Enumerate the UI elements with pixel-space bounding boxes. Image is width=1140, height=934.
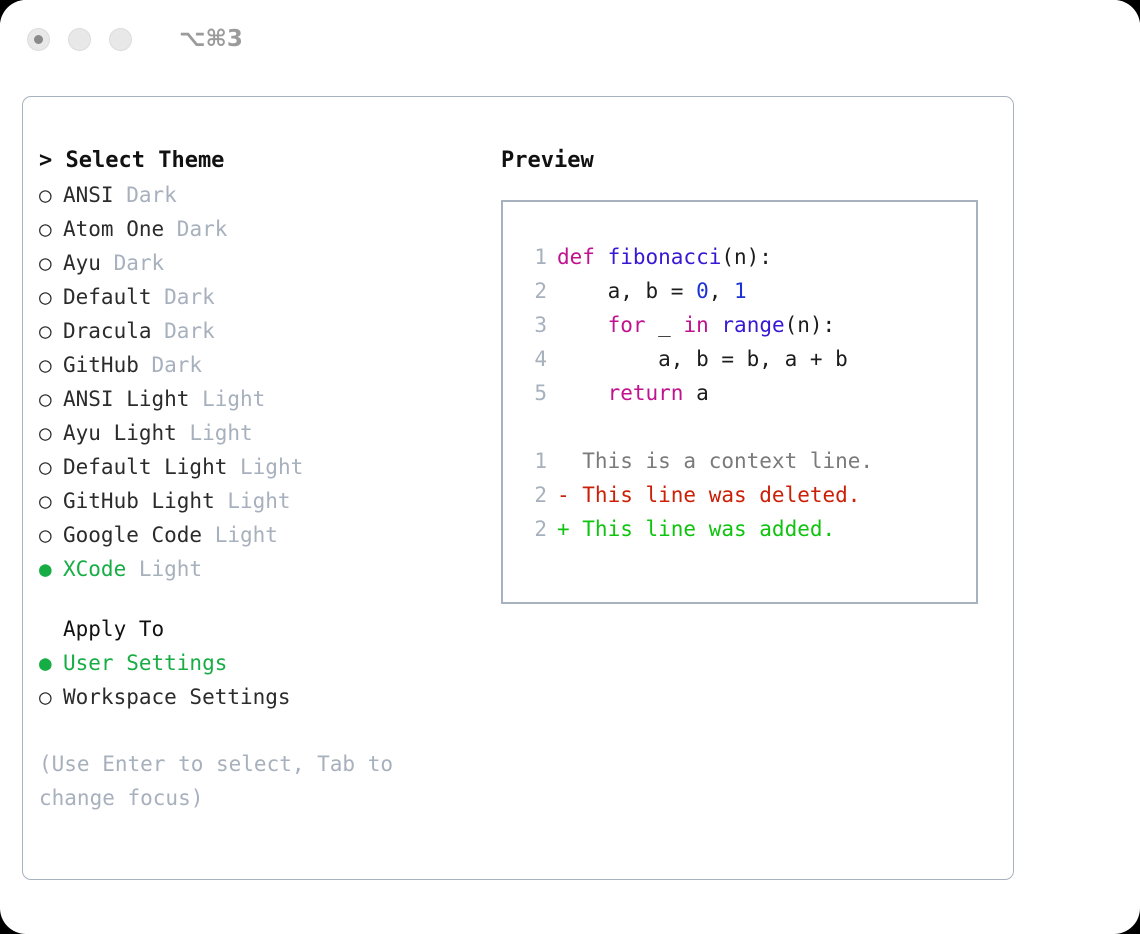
theme-option-label: Google Code (63, 523, 202, 547)
apply-to-option-workspace-settings[interactable]: ○Workspace Settings (39, 680, 479, 714)
radio-unselected-icon: ○ (39, 382, 63, 416)
code-token-plain (557, 381, 608, 405)
code-token-kw: in (683, 313, 708, 337)
code-token-kw: def (557, 245, 608, 269)
code-token-plain: a, b = b, a + b (557, 347, 848, 371)
radio-unselected-icon: ○ (39, 314, 63, 348)
diff-sample: 1 This is a context line.2- This line wa… (521, 444, 976, 546)
radio-unselected-icon: ○ (39, 484, 63, 518)
theme-option-atom-one[interactable]: ○Atom One Dark (39, 212, 479, 246)
keyboard-hint-text: (Use Enter to select, Tab to change focu… (39, 747, 439, 815)
line-number: 2 (521, 512, 547, 546)
code-token-plain (557, 313, 608, 337)
theme-option-label: GitHub (63, 353, 139, 377)
code-line: 5 return a (521, 376, 976, 410)
apply-to-option-label: Workspace Settings (63, 685, 291, 709)
code-token-kw: for (608, 313, 646, 337)
radio-unselected-icon: ○ (39, 450, 63, 484)
radio-unselected-icon: ○ (39, 280, 63, 314)
diff-line-text: - This line was deleted. (557, 483, 860, 507)
theme-option-label: Atom One (63, 217, 164, 241)
theme-option-kind: Dark (164, 217, 227, 241)
theme-option-default-light[interactable]: ○Default Light Light (39, 450, 479, 484)
code-token-plain: a, b = (557, 279, 696, 303)
diff-line-text: + This line was added. (557, 517, 835, 541)
theme-list[interactable]: ○ANSI Dark○Atom One Dark○Ayu Dark○Defaul… (39, 178, 479, 586)
theme-option-kind: Light (215, 489, 291, 513)
code-token-plain (709, 313, 722, 337)
theme-option-kind: Light (126, 557, 202, 581)
theme-option-label: Default Light (63, 455, 227, 479)
theme-option-kind: Dark (101, 251, 164, 275)
theme-option-kind: Dark (139, 353, 202, 377)
code-token-fn: range (721, 313, 784, 337)
apply-to-option-label: User Settings (63, 651, 227, 675)
theme-option-ansi-light[interactable]: ○ANSI Light Light (39, 382, 479, 416)
window-controls (27, 28, 132, 51)
theme-option-label: ANSI Light (63, 387, 189, 411)
radio-selected-icon: ● (39, 552, 63, 586)
apply-to-option-user-settings[interactable]: ●User Settings (39, 646, 479, 680)
code-token-fn: fibonacci (608, 245, 722, 269)
code-line: 1def fibonacci(n): (521, 240, 976, 274)
theme-option-label: Dracula (63, 319, 152, 343)
radio-unselected-icon: ○ (39, 680, 63, 714)
window-dot-inner (34, 35, 43, 44)
theme-option-label: Ayu (63, 251, 101, 275)
apply-to-list[interactable]: ●User Settings○Workspace Settings (39, 646, 479, 714)
code-token-plain: (n): (785, 313, 836, 337)
radio-unselected-icon: ○ (39, 246, 63, 280)
code-line: 4 a, b = b, a + b (521, 342, 976, 376)
line-number: 1 (521, 444, 547, 478)
code-line: 3 for _ in range(n): (521, 308, 976, 342)
theme-option-kind: Light (177, 421, 253, 445)
theme-option-label: GitHub Light (63, 489, 215, 513)
theme-option-default[interactable]: ○Default Dark (39, 280, 479, 314)
theme-option-kind: Light (227, 455, 303, 479)
code-token-num: 1 (734, 279, 747, 303)
theme-option-label: XCode (63, 557, 126, 581)
theme-option-ayu[interactable]: ○Ayu Dark (39, 246, 479, 280)
window-maximize-dot[interactable] (109, 28, 132, 51)
theme-option-label: ANSI (63, 183, 114, 207)
preview-header: Preview (501, 144, 1001, 178)
diff-line-add: 2+ This line was added. (521, 512, 976, 546)
code-token-plain: _ (646, 313, 684, 337)
preview-spacer (521, 410, 976, 444)
theme-option-kind: Dark (152, 285, 215, 309)
radio-unselected-icon: ○ (39, 518, 63, 552)
theme-option-kind: Light (202, 523, 278, 547)
radio-unselected-icon: ○ (39, 178, 63, 212)
theme-option-kind: Dark (114, 183, 177, 207)
preview-box: 1def fibonacci(n):2 a, b = 0, 13 for _ i… (501, 200, 978, 604)
code-token-kw: return (608, 381, 684, 405)
code-token-plain: (n): (721, 245, 772, 269)
theme-option-kind: Light (189, 387, 265, 411)
code-token-num: 0 (696, 279, 709, 303)
window-close-dot[interactable] (27, 28, 50, 51)
theme-selection-column: > Select Theme ○ANSI Dark○Atom One Dark○… (39, 144, 479, 815)
theme-option-label: Default (63, 285, 152, 309)
code-line: 2 a, b = 0, 1 (521, 274, 976, 308)
keyboard-shortcut-label: ⌥⌘3 (179, 26, 243, 52)
radio-unselected-icon: ○ (39, 212, 63, 246)
preview-column: Preview 1def fibonacci(n):2 a, b = 0, 13… (501, 144, 1001, 604)
line-number: 2 (521, 478, 547, 512)
apply-to-header: Apply To (39, 612, 479, 646)
main-panel: > Select Theme ○ANSI Dark○Atom One Dark○… (22, 96, 1014, 880)
diff-line-ctx: 1 This is a context line. (521, 444, 976, 478)
diff-line-text: This is a context line. (557, 449, 873, 473)
line-number: 3 (521, 308, 547, 342)
apply-to-section: Apply To ●User Settings○Workspace Settin… (39, 612, 479, 714)
line-number: 5 (521, 376, 547, 410)
window-minimize-dot[interactable] (68, 28, 91, 51)
theme-option-dracula[interactable]: ○Dracula Dark (39, 314, 479, 348)
select-theme-header: > Select Theme (39, 144, 479, 178)
diff-line-del: 2- This line was deleted. (521, 478, 976, 512)
radio-unselected-icon: ○ (39, 416, 63, 450)
radio-selected-icon: ● (39, 646, 63, 680)
line-number: 2 (521, 274, 547, 308)
theme-option-label: Ayu Light (63, 421, 177, 445)
theme-option-ayu-light[interactable]: ○Ayu Light Light (39, 416, 479, 450)
theme-option-github[interactable]: ○GitHub Dark (39, 348, 479, 382)
code-token-plain: , (709, 279, 734, 303)
title-bar: ⌥⌘3 (0, 0, 1140, 78)
line-number: 4 (521, 342, 547, 376)
theme-option-xcode[interactable]: ●XCode Light (39, 552, 479, 586)
line-number: 1 (521, 240, 547, 274)
theme-option-ansi[interactable]: ○ANSI Dark (39, 178, 479, 212)
theme-option-github-light[interactable]: ○GitHub Light Light (39, 484, 479, 518)
radio-unselected-icon: ○ (39, 348, 63, 382)
app-window: ⌥⌘3 > Select Theme ○ANSI Dark○Atom One D… (0, 0, 1140, 934)
code-sample: 1def fibonacci(n):2 a, b = 0, 13 for _ i… (521, 240, 976, 410)
theme-option-kind: Dark (152, 319, 215, 343)
theme-option-google-code[interactable]: ○Google Code Light (39, 518, 479, 552)
code-token-plain: a (683, 381, 708, 405)
